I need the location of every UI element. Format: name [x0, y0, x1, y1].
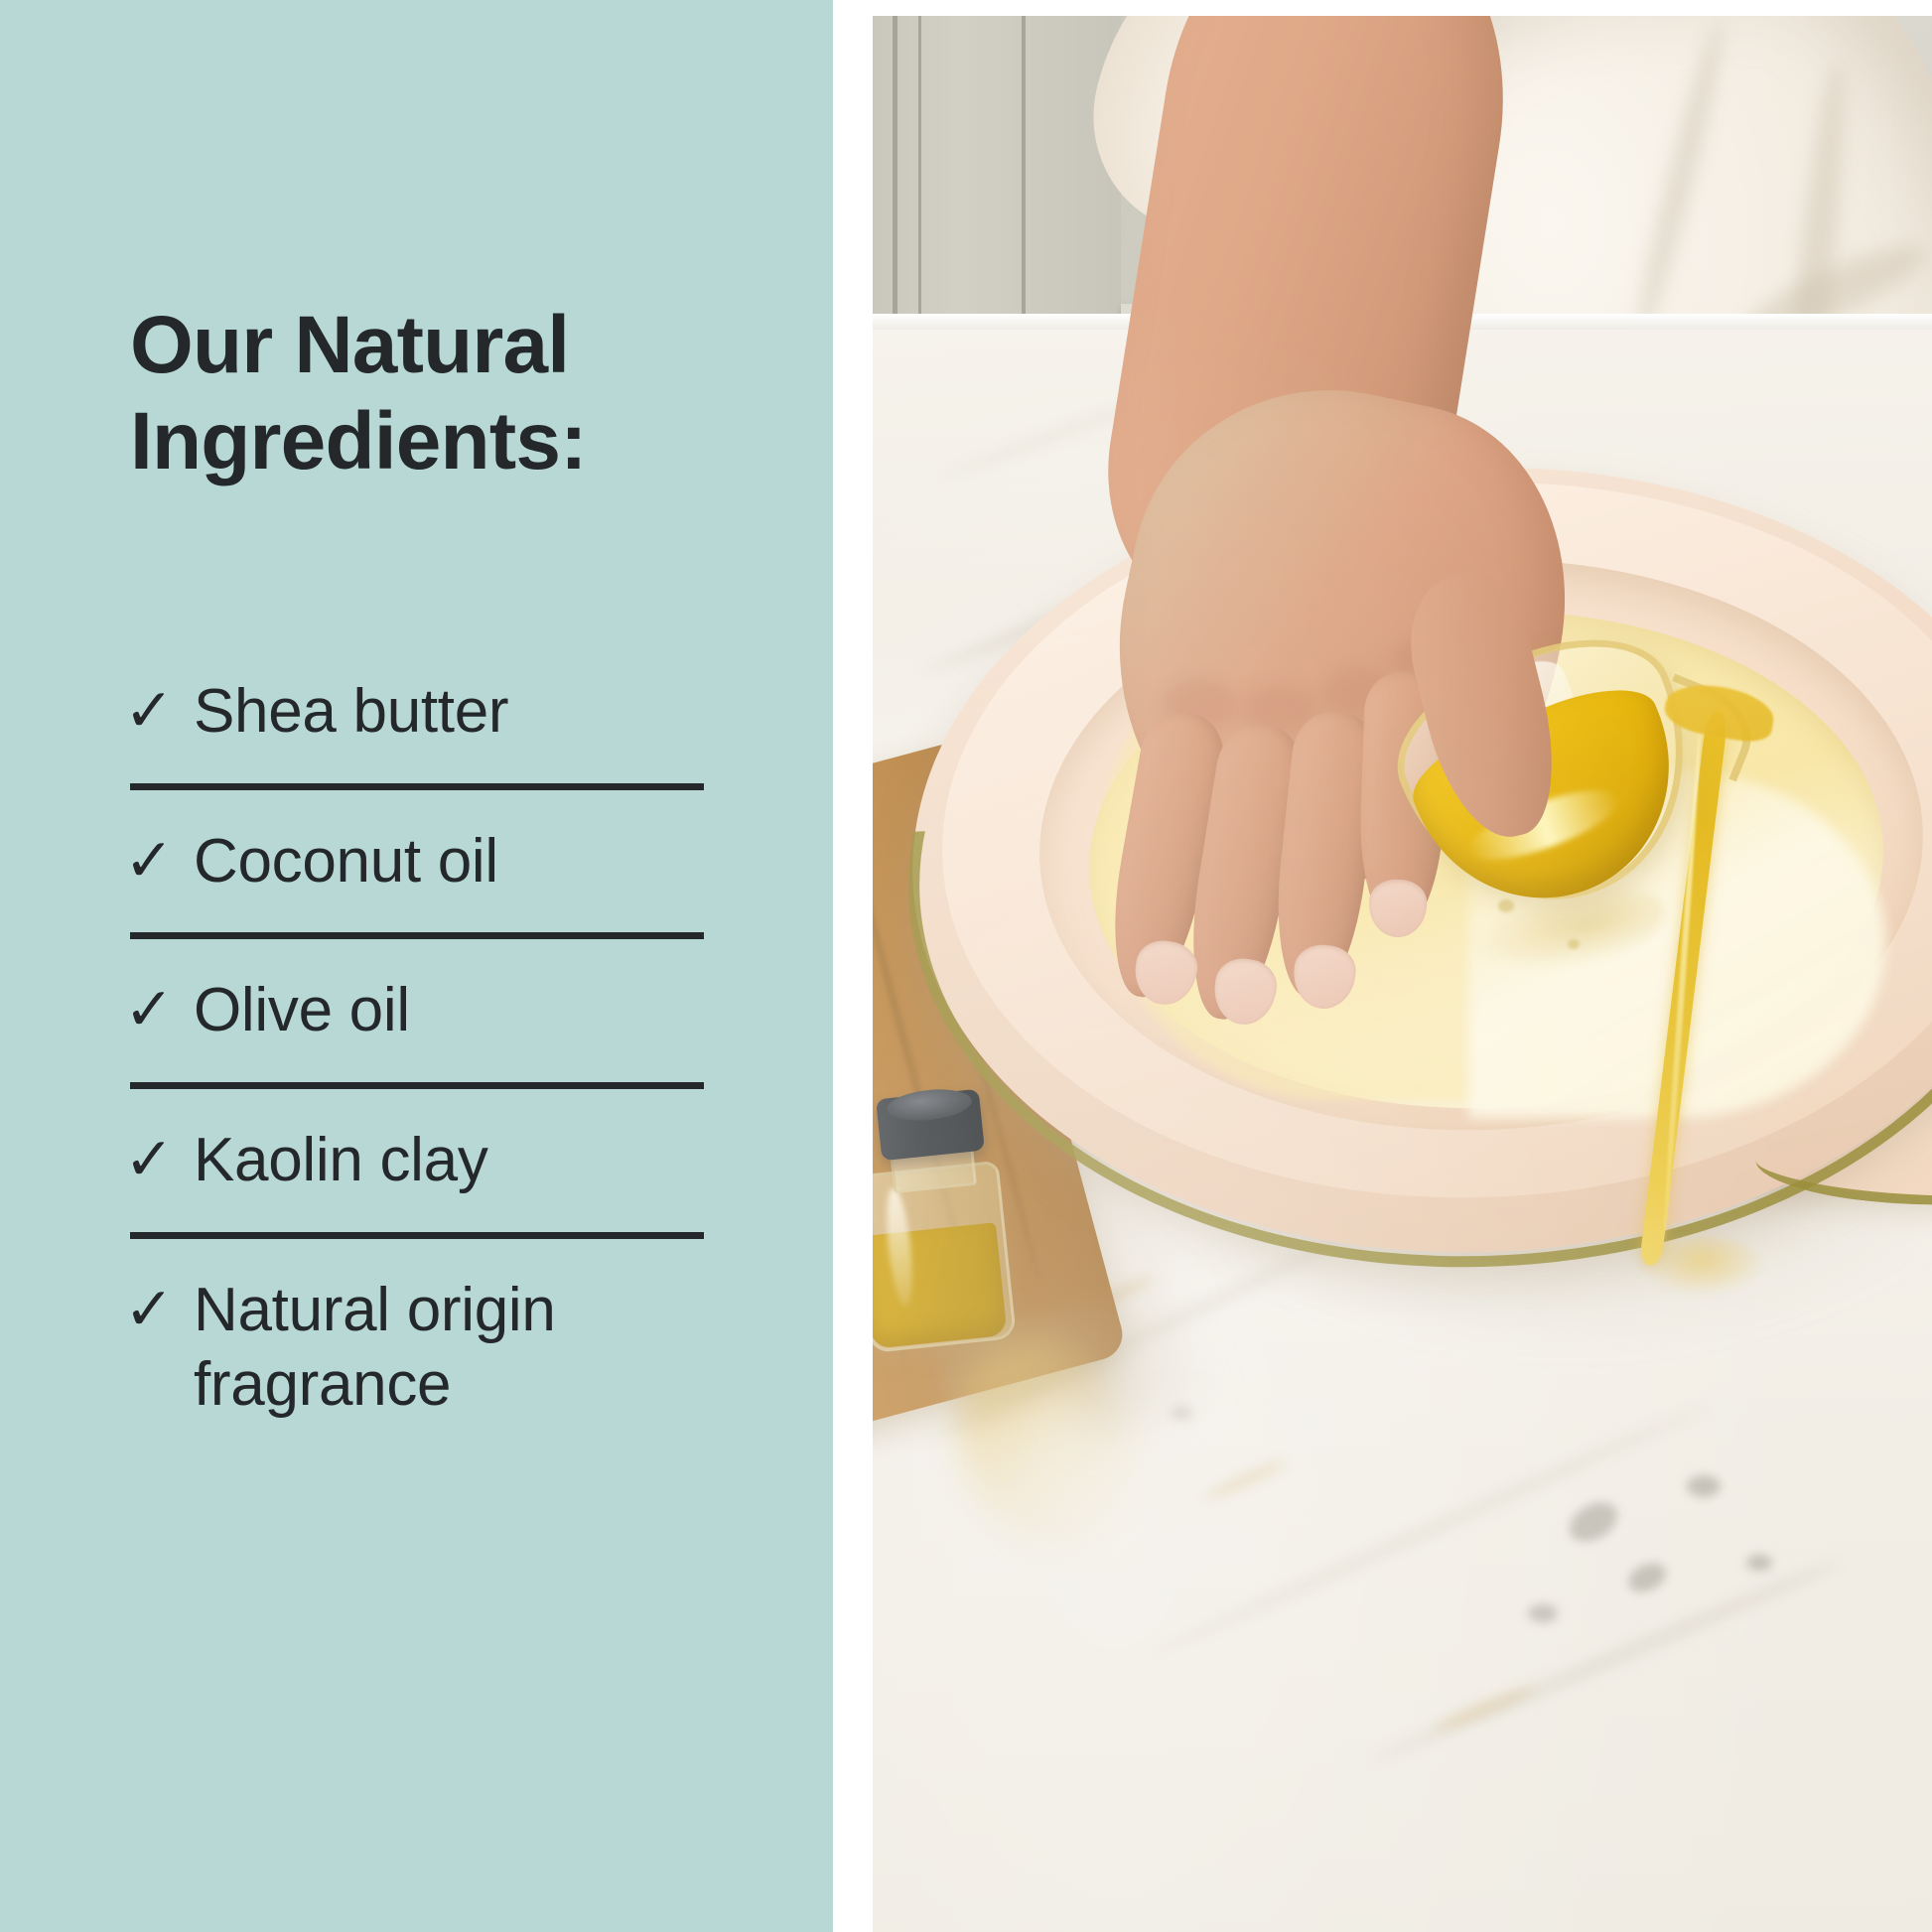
list-divider [130, 1082, 704, 1089]
ingredients-panel: Our Natural Ingredients: ✓ Shea butter ✓… [0, 0, 833, 1932]
check-icon: ✓ [124, 1123, 194, 1195]
check-icon: ✓ [124, 1273, 194, 1345]
page-title: Our Natural Ingredients: [130, 298, 726, 490]
headline-line-2: Ingredients: [130, 396, 587, 486]
ingredient-row: ✓ Shea butter [130, 640, 704, 783]
cabinet-groove [1022, 16, 1026, 334]
check-icon: ✓ [124, 973, 194, 1045]
ingredient-row: ✓ Natural origin fragrance [130, 1239, 704, 1456]
ingredient-label: Natural origin fragrance [194, 1273, 704, 1423]
list-divider [130, 783, 704, 790]
cabinet-groove [918, 16, 921, 344]
marble-speck [1746, 1555, 1772, 1571]
promo-canvas: Our Natural Ingredients: ✓ Shea butter ✓… [0, 0, 1932, 1932]
ingredient-label: Olive oil [194, 973, 704, 1048]
ingredient-list: ✓ Shea butter ✓ Coconut oil ✓ Olive [130, 640, 704, 1456]
panel-content: Our Natural Ingredients: ✓ Shea butter ✓… [130, 0, 704, 1932]
list-item: ✓ Coconut oil [130, 790, 704, 940]
check-icon: ✓ [124, 824, 194, 897]
list-item: ✓ Shea butter [130, 640, 704, 790]
marble-speck [1687, 1475, 1721, 1497]
ingredient-row: ✓ Olive oil [130, 939, 704, 1082]
batter-bubble [1568, 939, 1580, 949]
ingredient-row: ✓ Coconut oil [130, 790, 704, 933]
fabric-fold [1628, 18, 1732, 342]
list-item: ✓ Kaolin clay [130, 1089, 704, 1239]
ingredient-label: Coconut oil [194, 824, 704, 899]
ingredient-row: ✓ Kaolin clay [130, 1089, 704, 1232]
ingredient-label: Kaolin clay [194, 1123, 704, 1198]
ingredient-label: Shea butter [194, 674, 704, 750]
product-photo [873, 16, 1932, 1932]
list-divider [130, 932, 704, 939]
list-item: ✓ Natural origin fragrance [130, 1239, 704, 1456]
check-icon: ✓ [124, 674, 194, 747]
headline-line-1: Our Natural [130, 300, 569, 390]
batter-bubble [1498, 899, 1514, 912]
list-item: ✓ Olive oil [130, 939, 704, 1089]
marble-speck [1528, 1604, 1558, 1622]
list-divider [130, 1232, 704, 1239]
cabinet-groove [893, 16, 897, 344]
